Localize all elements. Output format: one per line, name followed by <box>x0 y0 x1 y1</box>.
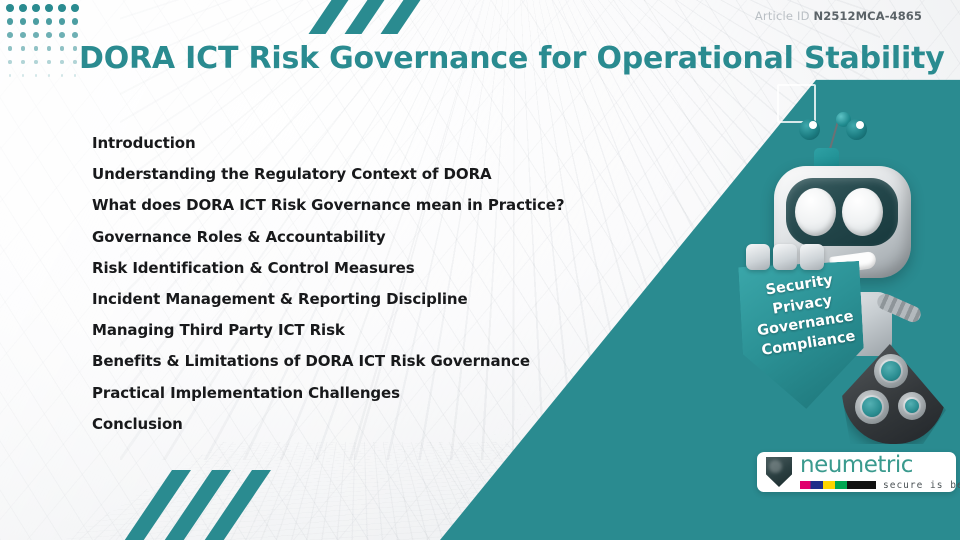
robot-roller <box>855 390 889 424</box>
robot-eye-right <box>842 188 883 236</box>
article-id: Article ID N2512MCA-4865 <box>755 9 922 23</box>
toc-item[interactable]: Introduction <box>92 136 632 151</box>
robot-eye-glint-left <box>809 121 817 129</box>
decorative-diagonal-bars-bottom <box>145 470 295 540</box>
logo-tagline: secure is better <box>883 480 960 491</box>
shield-icon <box>766 457 792 487</box>
neumetric-logo[interactable]: neumetric secure is better <box>757 452 956 492</box>
toc-item[interactable]: Incident Management & Reporting Discipli… <box>92 292 632 307</box>
robot-roller <box>898 392 926 420</box>
table-of-contents: IntroductionUnderstanding the Regulatory… <box>92 136 632 448</box>
decorative-diagonal-bars-top <box>322 0 462 38</box>
decorative-dot-grid <box>6 4 80 82</box>
article-id-label: Article ID <box>755 9 810 23</box>
robot-hand <box>746 244 824 270</box>
logo-color-bar <box>800 481 876 489</box>
robot-mascot: SecurityPrivacyGovernanceCompliance <box>726 104 960 444</box>
logo-wordmark: neumetric <box>800 454 947 477</box>
toc-item[interactable]: Practical Implementation Challenges <box>92 386 632 401</box>
toc-item[interactable]: Conclusion <box>92 417 632 432</box>
toc-item[interactable]: Understanding the Regulatory Context of … <box>92 167 632 182</box>
robot-shield-text: SecurityPrivacyGovernanceCompliance <box>745 268 864 362</box>
toc-item[interactable]: Governance Roles & Accountability <box>92 230 632 245</box>
robot-eye-glint-right <box>856 121 864 129</box>
robot-eye-left <box>795 188 836 236</box>
toc-item[interactable]: What does DORA ICT Risk Governance mean … <box>92 198 632 213</box>
logo-text-block: neumetric secure is better <box>800 454 947 491</box>
robot-wheel-assembly <box>842 344 946 444</box>
page-title: DORA ICT Risk Governance for Operational… <box>79 42 909 75</box>
presentation-slide: Article ID N2512MCA-4865 DORA ICT Risk G… <box>0 0 960 540</box>
toc-item[interactable]: Benefits & Limitations of DORA ICT Risk … <box>92 354 632 369</box>
toc-item[interactable]: Managing Third Party ICT Risk <box>92 323 632 338</box>
toc-item[interactable]: Risk Identification & Control Measures <box>92 261 632 276</box>
article-id-value: N2512MCA-4865 <box>814 9 923 23</box>
robot-roller <box>874 354 908 388</box>
logo-tagline-row: secure is better <box>800 480 947 491</box>
